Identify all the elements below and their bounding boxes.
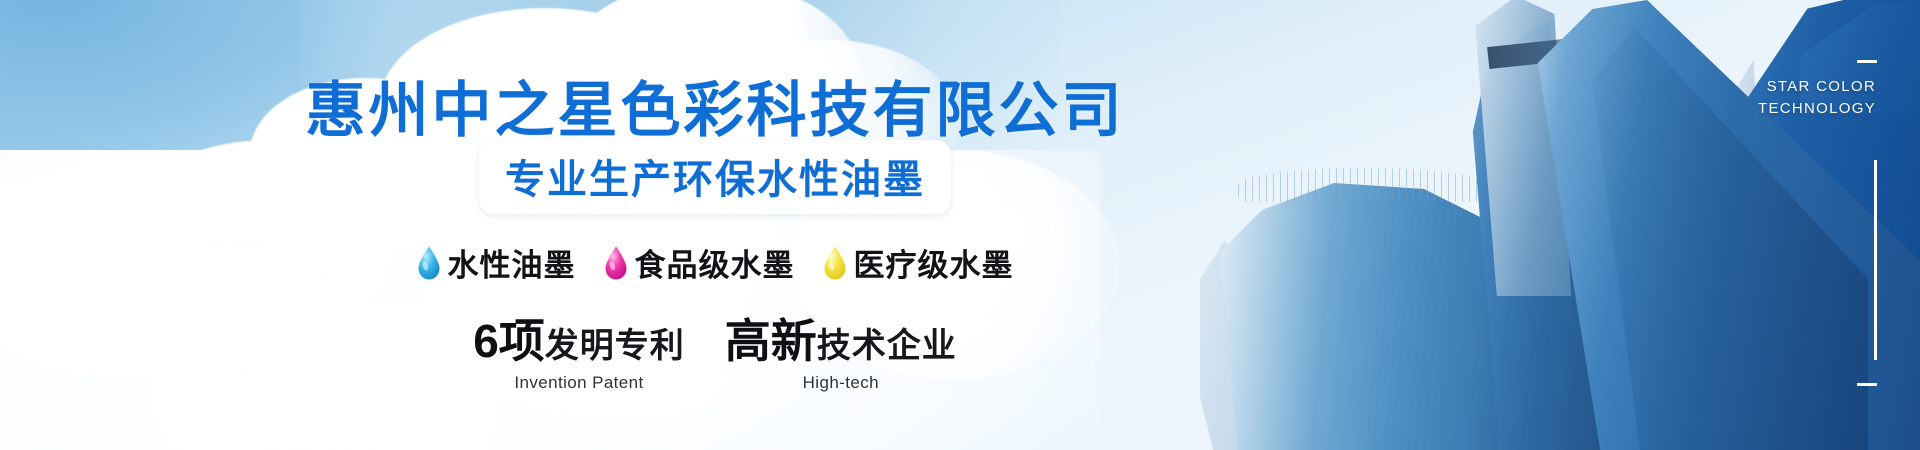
badge-prefix: 高新 <box>725 315 817 367</box>
slogan-pill-wrapper: 专业生产环保水性油墨 <box>0 140 1430 214</box>
water-drop-icon <box>823 246 847 280</box>
water-drop-icon <box>417 246 441 280</box>
badge-chinese-text: 6项发明专利 <box>473 318 685 364</box>
product-label: 食品级水墨 <box>635 240 795 285</box>
badge-invention-patent: 6项发明专利 Invention Patent <box>473 318 685 393</box>
banner-content: 惠州中之星色彩科技有限公司 专业生产环保水性油墨 水性油墨 <box>0 0 1920 450</box>
product-item-medical-grade-ink: 医疗级水墨 <box>823 240 1014 285</box>
hero-banner: Star Color STAR COLOR TECHNOLOGY 惠州中之星色彩… <box>0 0 1920 450</box>
company-name-headline: 惠州中之星色彩科技有限公司 <box>0 62 1430 149</box>
badge-english-text: High-tech <box>725 373 957 393</box>
badge-suffix: 技术企业 <box>817 327 957 365</box>
badge-high-tech-enterprise: 高新技术企业 High-tech <box>725 318 957 393</box>
badge-prefix: 6项 <box>473 315 545 367</box>
product-label: 水性油墨 <box>448 240 576 285</box>
badge-chinese-text: 高新技术企业 <box>725 318 957 364</box>
product-label: 医疗级水墨 <box>854 240 1014 285</box>
credential-badges: 6项发明专利 Invention Patent 高新技术企业 High-tech <box>0 318 1430 393</box>
product-list: 水性油墨 食品级水墨 <box>0 240 1430 285</box>
badge-english-text: Invention Patent <box>473 373 685 393</box>
badge-suffix: 发明专利 <box>545 327 685 365</box>
water-drop-icon <box>604 246 628 280</box>
slogan-pill: 专业生产环保水性油墨 <box>479 140 951 214</box>
product-item-food-grade-ink: 食品级水墨 <box>604 240 795 285</box>
product-item-water-based-ink: 水性油墨 <box>417 240 576 285</box>
